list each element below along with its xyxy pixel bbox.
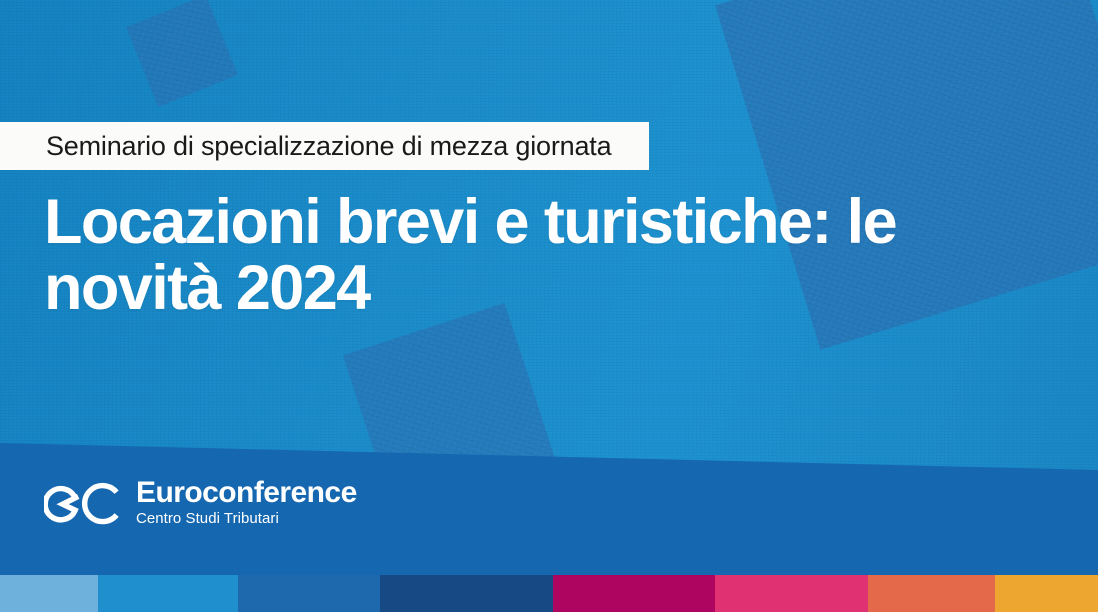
event-kicker-strip: Seminario di specializzazione di mezza g… <box>0 122 649 170</box>
color-bar-segment-pink <box>715 575 868 612</box>
event-title: Locazioni brevi e turistiche: le novità … <box>44 190 1044 321</box>
event-banner: Seminario di specializzazione di mezza g… <box>0 0 1098 612</box>
brand-color-bar <box>0 575 1098 612</box>
color-bar-segment-light-blue <box>0 575 98 612</box>
euroconference-logo: Euroconference Centro Studi Tributari <box>44 478 357 528</box>
ec-monogram-icon <box>44 479 122 527</box>
event-title-line-1: Locazioni brevi e turistiche: le <box>44 190 1044 256</box>
event-title-line-2: novità 2024 <box>44 256 1044 322</box>
color-bar-segment-medium-blue <box>238 575 380 612</box>
color-bar-segment-yellow <box>995 575 1098 612</box>
logo-title: Euroconference <box>136 478 357 509</box>
logo-wordmark: Euroconference Centro Studi Tributari <box>136 478 357 528</box>
color-bar-segment-sky-blue <box>98 575 238 612</box>
event-kicker-text: Seminario di specializzazione di mezza g… <box>46 133 611 160</box>
color-bar-segment-navy-blue <box>380 575 553 612</box>
logo-subtitle: Centro Studi Tributari <box>136 510 357 528</box>
color-bar-segment-magenta <box>553 575 715 612</box>
color-bar-segment-orange <box>868 575 995 612</box>
